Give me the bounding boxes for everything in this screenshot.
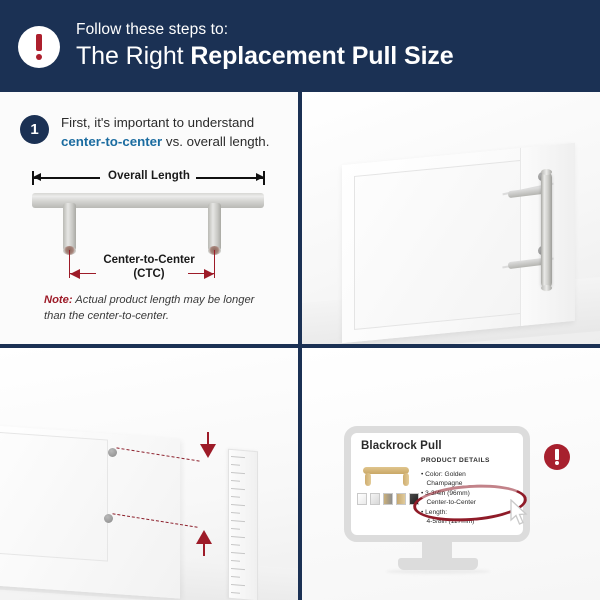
product-pull-leg-right	[403, 473, 409, 486]
overall-arrow-left-icon	[33, 173, 41, 181]
ruler-tick	[231, 464, 240, 466]
product-thumbnails[interactable]	[357, 493, 419, 505]
screw-hole-top-3	[108, 448, 117, 457]
page-title: The Right Replacement Pull Size	[76, 41, 454, 72]
door-panel-inset-3	[0, 432, 108, 562]
door-panel-inset	[354, 159, 528, 330]
pull-post-left	[63, 203, 76, 251]
ctc-label: Center-to-Center	[0, 254, 298, 266]
note-text: Actual product length may be longer than…	[44, 294, 254, 322]
ctc-sub-label: (CTC)	[0, 268, 298, 280]
step-number-1: 1	[20, 115, 49, 144]
title-bold: Replacement Pull Size	[190, 42, 453, 70]
ruler-tick	[231, 560, 240, 562]
overall-line-right	[196, 177, 264, 179]
ruler-tick	[231, 504, 245, 506]
monitor-base	[398, 558, 478, 570]
measure-arrow-stem-bottom	[203, 542, 205, 556]
overall-line-left	[32, 177, 100, 179]
detached-bar-pull	[541, 172, 552, 288]
ruler-tick	[231, 592, 240, 594]
ctc-arrow-left-icon	[70, 269, 80, 279]
step-1-heading: 1 First, it's important to understand ce…	[0, 92, 298, 151]
measuring-photo	[0, 348, 298, 600]
ruler-tick	[231, 480, 240, 482]
ruler-tick	[231, 536, 245, 538]
thumbnail-4[interactable]	[396, 493, 406, 505]
ruler-tick	[231, 528, 240, 530]
monitor-screen: Blackrock Pull PRODUCT DETAILS •	[344, 426, 530, 542]
step-1-accent: center-to-center	[61, 134, 162, 149]
ruler-tick	[231, 472, 245, 474]
steps-grid: 1 First, it's important to understand ce…	[0, 92, 600, 600]
ctc-arrow-right-icon	[204, 269, 214, 279]
ruler-tick	[231, 512, 240, 514]
pull-cap-bottom	[541, 285, 552, 291]
ruler-tick	[231, 584, 245, 586]
thumbnail-1[interactable]	[357, 493, 367, 505]
ruler-tick	[231, 520, 245, 522]
overall-arrow-right-icon	[256, 173, 264, 181]
diagram-note: Note: Actual product length may be longe…	[44, 292, 260, 324]
warning-exclamation-icon	[544, 444, 570, 470]
measure-arrow-down-icon	[200, 444, 216, 458]
ruler-tick	[231, 496, 240, 498]
cabinet-door-3	[0, 425, 180, 598]
step-1-text: First, it's important to understand cent…	[61, 114, 269, 151]
overall-length-label: Overall Length	[0, 170, 298, 182]
ctc-drop-right	[214, 250, 215, 278]
screw-hole-bottom-3	[104, 514, 113, 523]
pull-cap-top	[541, 169, 552, 175]
step-1-line1: First, it's important to understand	[61, 115, 254, 130]
infographic-page: Follow these steps to: The Right Replace…	[0, 0, 600, 600]
product-title: Blackrock Pull	[361, 440, 442, 452]
step-panel-2: 2 If you are replacing a pull, start by …	[302, 92, 600, 344]
ruler-tick	[231, 576, 240, 578]
thumbnail-3[interactable]	[383, 493, 393, 505]
product-page-illustration: Blackrock Pull PRODUCT DETAILS •	[302, 348, 600, 600]
note-label: Note:	[44, 294, 73, 306]
measure-arrow-up-icon	[196, 530, 212, 544]
cabinet-door-photo	[302, 92, 600, 344]
step-panel-3: 3 Measure the distance between the cente…	[0, 348, 298, 600]
grid-divider-horizontal	[0, 344, 600, 348]
ruler-tick	[231, 456, 245, 458]
step-1-line2: vs. overall length.	[162, 134, 269, 149]
monitor-neck	[422, 542, 452, 558]
product-image	[359, 461, 413, 491]
pull-post-right	[208, 203, 221, 251]
exclamation-circle-icon	[18, 26, 60, 68]
product-pull-leg-left	[365, 473, 371, 486]
cabinet-door	[342, 143, 574, 343]
ruler-tick	[231, 488, 245, 490]
header-kicker: Follow these steps to:	[76, 20, 454, 39]
pull-measurement-diagram: Overall Length Center-to-Center (CTC)	[0, 170, 298, 344]
product-details-heading: PRODUCT DETAILS	[421, 457, 490, 464]
ruler-tick	[231, 568, 245, 570]
ruler	[228, 449, 258, 600]
step-panel-4: Blackrock Pull PRODUCT DETAILS •	[302, 348, 600, 600]
title-light: The Right	[76, 42, 190, 70]
step-panel-1: 1 First, it's important to understand ce…	[0, 92, 298, 344]
page-header: Follow these steps to: The Right Replace…	[0, 0, 600, 92]
ruler-tick	[231, 544, 240, 546]
ruler-tick	[231, 552, 245, 554]
thumbnail-2[interactable]	[370, 493, 380, 505]
